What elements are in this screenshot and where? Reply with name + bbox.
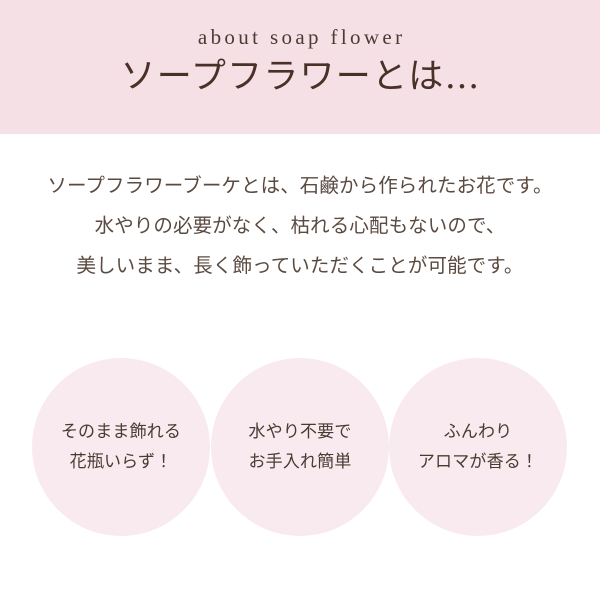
feature-item-no-vase-needed: そのまま飾れる 花瓶いらず！ xyxy=(32,358,210,536)
feature-line-2a: 水やり不要で xyxy=(248,417,351,447)
feature-line-1a: そのまま飾れる xyxy=(61,417,181,447)
feature-line-3b: アロマが香る！ xyxy=(418,447,538,477)
page-title: ソープフラワーとは… xyxy=(119,58,480,97)
feature-item-aroma-scent: ふんわり アロマが香る！ xyxy=(389,358,567,536)
lead-line-2: 水やりの必要がなく、枯れる心配もないので、 xyxy=(0,206,600,246)
feature-line-1b: 花瓶いらず！ xyxy=(70,447,173,477)
feature-item-no-watering: 水やり不要で お手入れ簡単 xyxy=(211,358,389,536)
header-band: about soap flower ソープフラワーとは… xyxy=(0,0,600,134)
feature-line-2b: お手入れ簡単 xyxy=(248,447,351,477)
lead-paragraph: ソープフラワーブーケとは、石鹸から作られたお花です。 水やりの必要がなく、枯れる… xyxy=(0,166,600,286)
lead-line-1: ソープフラワーブーケとは、石鹸から作られたお花です。 xyxy=(0,166,600,206)
header-eyebrow: about soap flower xyxy=(195,26,406,49)
feature-line-3a: ふんわり xyxy=(444,417,513,447)
about-soap-flower-page: about soap flower ソープフラワーとは… ソープフラワーブーケと… xyxy=(0,0,600,600)
lead-line-3: 美しいまま、長く飾っていただくことが可能です。 xyxy=(0,246,600,286)
